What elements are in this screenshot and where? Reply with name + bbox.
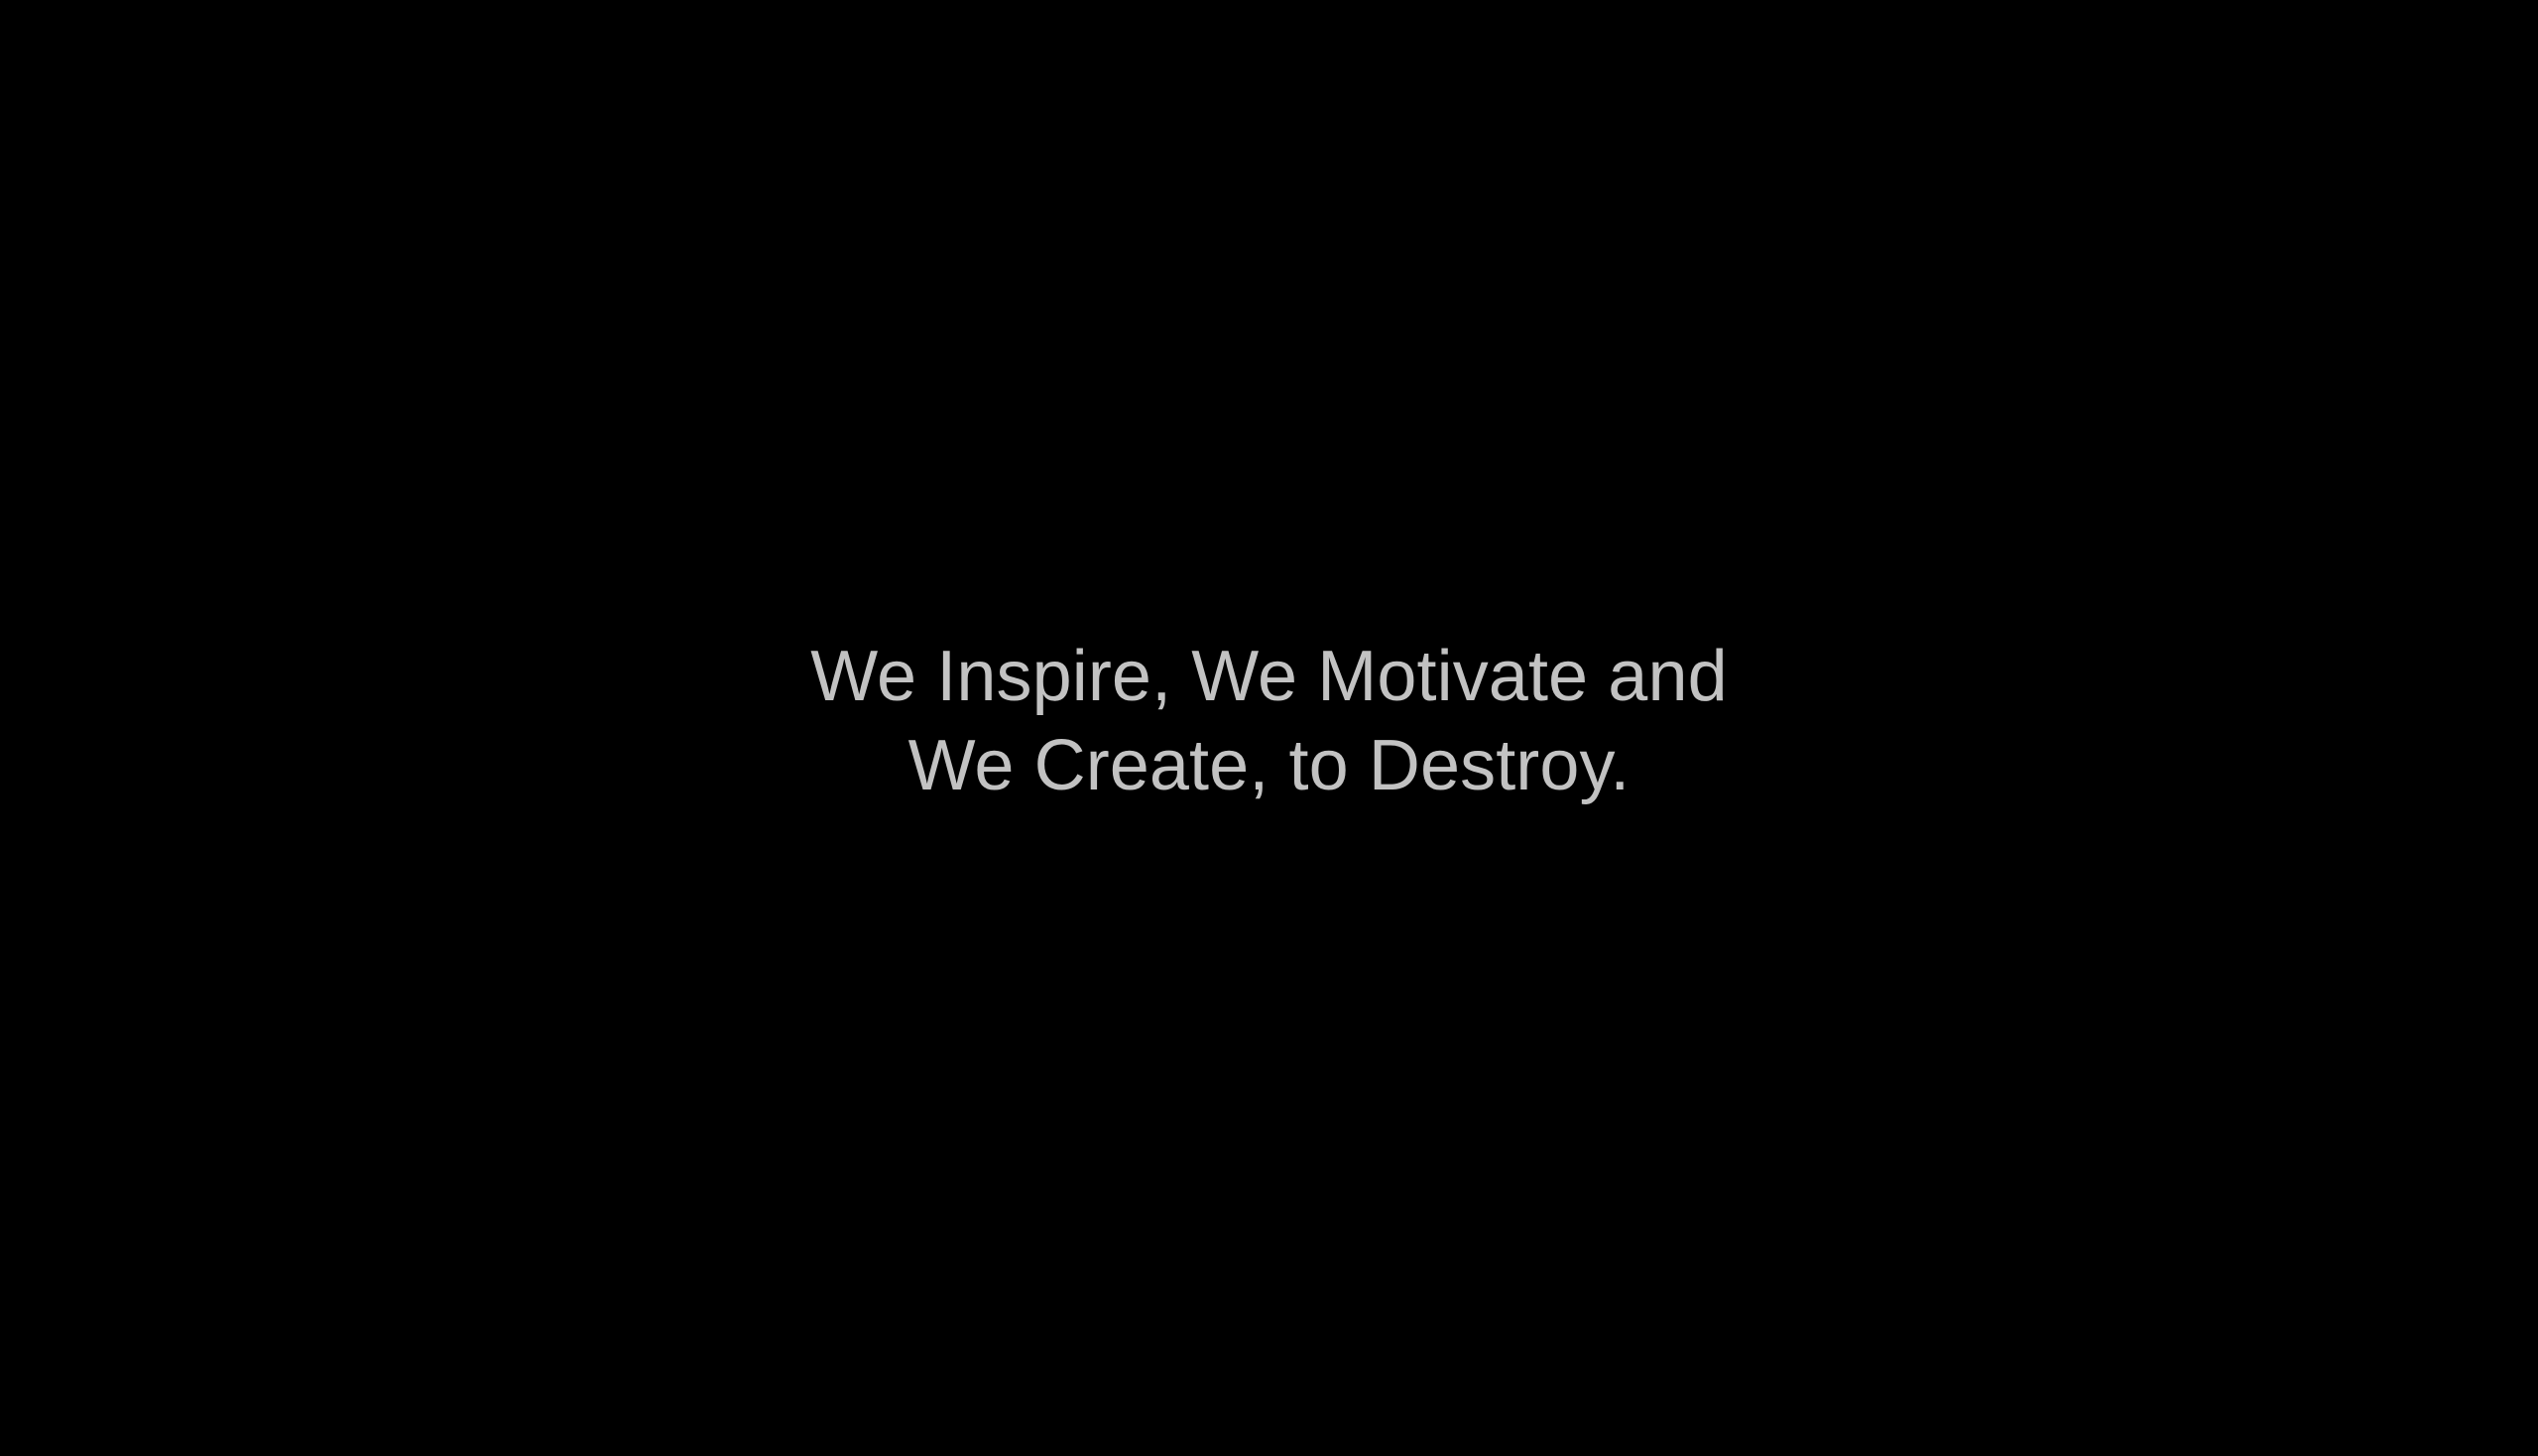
quote-line-1: We Inspire, We Motivate and [810, 632, 1727, 721]
quote-line-2: We Create, to Destroy. [810, 721, 1727, 810]
slide-stage: We Inspire, We Motivate and We Create, t… [0, 0, 2538, 1456]
quote-block: We Inspire, We Motivate and We Create, t… [810, 632, 1727, 810]
